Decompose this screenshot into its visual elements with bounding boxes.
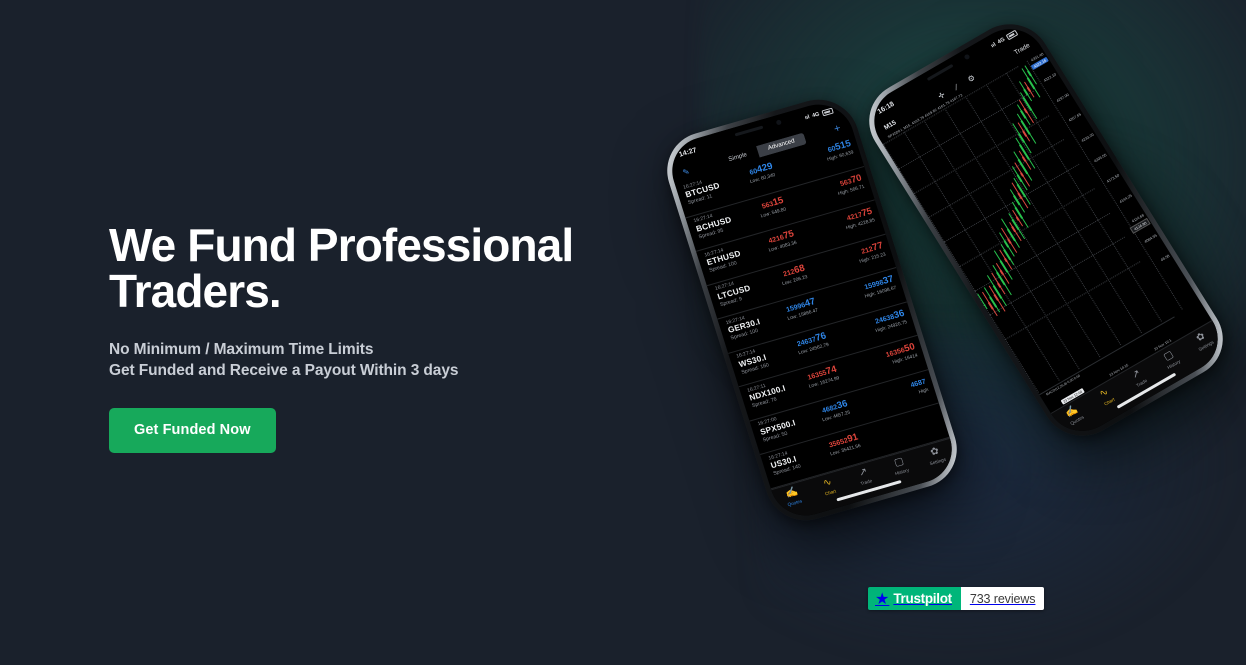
price-tick: 4233.20 [1081, 133, 1095, 143]
edit-icon[interactable]: ✎ [681, 167, 690, 177]
star-icon: ★ [875, 589, 889, 609]
tab-quotes[interactable]: ✍Quotes [772, 483, 813, 510]
add-symbol-icon[interactable]: + [832, 122, 842, 135]
battery-icon [1006, 30, 1018, 40]
battery-icon [822, 108, 834, 116]
signal-icon: ııl [990, 42, 997, 49]
price-tick: 4203.55 [1093, 153, 1107, 163]
network-label: 4G [997, 37, 1007, 46]
price-tick: 4267.65 [1068, 113, 1082, 123]
network-label: 4G [812, 111, 821, 119]
price-tick: 4144.25 [1119, 193, 1133, 203]
price-tick: 4084.55 [1144, 234, 1158, 244]
signal-icon: ııl [804, 114, 810, 121]
hero-section: We Fund Professional Traders. No Minimum… [109, 222, 669, 453]
tab-settings[interactable]: ✿Settings [915, 442, 956, 469]
status-indicators: ııl 4G [804, 108, 834, 122]
indicators-icon[interactable]: ⚙ [966, 73, 977, 84]
price-tick: 4322.10 [1043, 72, 1057, 82]
trustpilot-brand-block: ★ Trustpilot [868, 587, 961, 610]
status-time: 14:27 [678, 146, 697, 158]
trade-button[interactable]: Trade [1013, 42, 1031, 56]
tab-settings[interactable]: ✿Settings [1182, 323, 1224, 357]
quote-ask [935, 410, 936, 412]
hero-subheading: No Minimum / Maximum Time Limits Get Fun… [109, 340, 669, 381]
trustpilot-badge[interactable]: ★ Trustpilot 733 reviews [868, 587, 1044, 610]
page-title: We Fund Professional Traders. [109, 222, 669, 314]
status-time: 16:18 [876, 100, 895, 115]
price-tick: 4173.50 [1106, 173, 1120, 183]
hero-subline-1: No Minimum / Maximum Time Limits [109, 340, 669, 361]
price-tick: 4297.90 [1056, 93, 1070, 103]
price-tick: 48.58 [1160, 254, 1170, 262]
timeframe-label[interactable]: M15 [883, 119, 898, 131]
trustpilot-label: Trustpilot [893, 591, 952, 606]
line-tool-icon[interactable]: ∕ [953, 83, 959, 91]
trustpilot-review-count: 733 reviews [961, 587, 1045, 610]
tab-history[interactable]: ▢History [880, 452, 921, 479]
hero-subline-2: Get Funded and Receive a Payout Within 3… [109, 361, 669, 382]
get-funded-now-button[interactable]: Get Funded Now [109, 408, 276, 453]
crosshair-icon[interactable]: ✛ [936, 90, 947, 101]
